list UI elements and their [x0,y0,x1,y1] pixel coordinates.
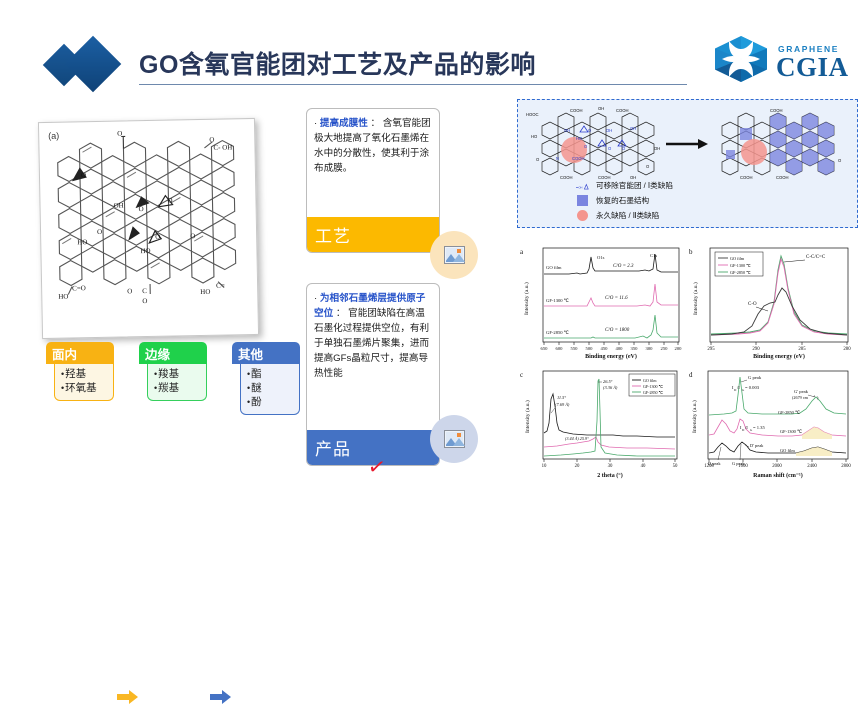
svg-text:(7.69 Å): (7.69 Å) [555,402,570,407]
svg-text:C- OH: C- OH [213,143,232,151]
chart-ylabel: Intensity (a.u.) [692,282,699,315]
right-arrow-icon [117,690,139,704]
card-process[interactable]: · 提高成膜性 ： 含氧官能团极大地提高了氧化石墨烯在水中的分散性，使其利于涂布… [306,108,440,253]
svg-text:10: 10 [542,464,547,469]
image-placeholder-icon[interactable] [430,415,478,463]
svg-text:GO film: GO film [643,378,657,383]
right-arrow-icon [210,690,232,704]
slide-canvas: GO含氧官能团对工艺及产品的影响 GRAPHENE CGIA (a) [0,0,866,488]
svg-text:285: 285 [798,347,806,352]
group-entry: 醚 [247,381,295,395]
brand-name: CGIA [776,52,849,83]
card-body-text: · 为相邻石墨烯层提供原子空位 ： 官能团缺陷在高温石墨化过程提供空位，有利于单… [307,284,439,430]
card-body-text: · 提高成膜性 ： 含氧官能团极大地提高了氧化石墨烯在水中的分散性，使其利于涂布… [307,109,439,217]
chart-panel-label: a [520,248,524,256]
svg-text:600: 600 [556,346,564,351]
group-entry: 酚 [247,395,295,409]
svg-text:2000: 2000 [772,464,782,469]
svg-text:200: 200 [675,346,683,351]
svg-text:450: 450 [601,346,609,351]
card-product[interactable]: · 为相邻石墨烯层提供原子空位 ： 官能团缺陷在高温石墨化过程提供空位，有利于单… [306,283,440,466]
chart-panel-label: d [689,371,693,379]
svg-text:= 1.35: = 1.35 [753,425,765,430]
group-entry: 羧基 [154,367,202,381]
svg-text:1600: 1600 [738,464,748,469]
svg-text:O: O [209,136,214,144]
chart-ylabel: Intensity (a.u.) [524,400,531,433]
svg-text:GF-2850 ℃: GF-2850 ℃ [730,270,751,275]
svg-text:O1s: O1s [597,255,605,260]
svg-text:/I: /I [737,385,740,390]
svg-text:GO film: GO film [730,256,745,261]
svg-text:COOH: COOH [770,108,783,113]
bullet-marker: · [314,118,317,129]
svg-text:O: O [155,233,160,241]
svg-text:HO: HO [200,288,210,296]
svg-text:C: C [142,287,147,295]
svg-text:OH: OH [578,185,582,189]
svg-text:OH: OH [654,146,660,151]
characterization-charts: a Intensity (a.u.) GO film O1s C1s C/O =… [517,240,858,482]
svg-text:OH: OH [630,126,636,131]
svg-text:GF-1300 ℃: GF-1300 ℃ [780,429,802,434]
card-footer-label: 工艺 [307,217,439,253]
svg-text:O: O [584,144,588,149]
svg-text:40: 40 [641,464,646,469]
image-placeholder-icon[interactable] [430,231,478,279]
chart-legend: GO film GF-1300 ℃ GF-2850 ℃ [715,252,763,276]
cgia-brand-logo: GRAPHENE CGIA [698,33,858,85]
svg-text:COOH: COOH [570,108,583,113]
svg-text:O: O [127,287,132,295]
svg-text:C/O = 11.6: C/O = 11.6 [605,296,628,301]
functional-group-chain: 面内 羟基 环氧基 边缘 羧基 羰基 其他 酯 [46,342,296,447]
chart-xlabel: Raman shift (cm⁻¹) [753,472,803,479]
graphene-oxide-structure-figure: (a) [38,118,259,339]
svg-text:GF-2850 ℃: GF-2850 ℃ [778,410,800,415]
svg-text:GF-1300 ℃: GF-1300 ℃ [546,298,570,303]
svg-text:HO: HO [576,136,583,141]
svg-text:HO: HO [140,247,150,255]
svg-text:20: 20 [575,464,580,469]
svg-text:G peak: G peak [748,375,762,380]
group-card-edge[interactable]: 边缘 羧基 羰基 [139,342,207,401]
svg-text:HO: HO [531,134,538,139]
group-entry: 酯 [247,367,295,381]
svg-text:(2679 cm: (2679 cm [792,395,809,400]
svg-text:26.5°: 26.5° [603,379,613,384]
svg-text:COOH: COOH [572,156,585,161]
red-circle-icon [576,210,589,221]
svg-text:C-C/C=C: C-C/C=C [806,255,826,260]
svg-text:O: O [646,164,650,169]
card-lead-label: 提高成膜性 [320,118,368,129]
page-title: GO含氧官能团对工艺及产品的影响 [139,45,536,81]
reduction-schematic-drawing: HOOC COOH OH COOH HO OH COOH COOH OH O O… [518,102,856,182]
chart-ylabel: Intensity (a.u.) [691,400,698,433]
chart-panel-b-c1s-xps: b Intensity (a.u.) GO film GF-1300 ℃ GF-… [688,240,858,360]
svg-text:GO film: GO film [780,448,795,453]
hexagon-star-icon [712,35,770,83]
svg-text:HO: HO [77,238,87,246]
group-entry-list: 羟基 环氧基 [54,364,114,401]
blue-square-icon [576,195,589,206]
svg-text:O: O [588,128,592,133]
svg-text:11.5°: 11.5° [557,395,566,400]
group-entry-list: 羧基 羰基 [147,364,207,401]
svg-text:2800: 2800 [841,464,851,469]
svg-text:D' peak: D' peak [750,443,764,448]
legend-label: 可移除官能团 / Ⅰ类缺陷 [596,180,673,191]
svg-text:350: 350 [631,346,639,351]
svg-text:HO: HO [58,293,68,301]
svg-text:OH: OH [564,128,570,133]
svg-text:OH: OH [113,201,123,209]
group-entry-list: 酯 醚 酚 [240,364,300,415]
svg-text:2400: 2400 [807,464,817,469]
svg-text:500: 500 [586,346,594,351]
legend-label: 恢复的石墨结构 [596,195,649,206]
red-check-icon: ✓ [366,454,387,480]
svg-text:C1s: C1s [650,253,657,258]
svg-text:50: 50 [673,464,678,469]
chart-legend: GO film GF-1300 ℃ GF-2850 ℃ [629,374,675,396]
graphene-oxide-structure-drawing: O O O C- OH O O OH O O HO HO O HO C=O O … [39,119,256,336]
chart-ylabel: Intensity (a.u.) [523,282,530,315]
chart-xlabel: 2 theta (°) [597,472,622,479]
svg-text:O: O [190,232,195,240]
svg-text:C-O: C-O [748,302,757,307]
svg-text:O: O [81,171,86,179]
reduction-arrow-icon [666,139,708,149]
chart-xlabel: Binding energy (eV) [753,353,805,360]
group-entry: 羟基 [61,367,109,381]
group-card-in-plane[interactable]: 面内 羟基 环氧基 [46,342,114,401]
bullet-marker: · [314,293,317,304]
double-diamond-logo [47,40,132,88]
svg-text:COOH: COOH [776,175,789,180]
svg-text:O: O [622,146,626,151]
svg-text:GF-2850 ℃: GF-2850 ℃ [546,330,570,335]
svg-text:550: 550 [571,346,579,351]
chart-panel-label: b [689,248,693,256]
legend-label: 永久缺陷 / Ⅱ类缺陷 [596,210,659,221]
svg-text:280: 280 [843,347,851,352]
legend-row: OH 可移除官能团 / Ⅰ类缺陷 [576,178,673,193]
chart-panel-a-xps-survey: a Intensity (a.u.) GO film O1s C1s C/O =… [517,240,687,360]
legend-row: 恢复的石墨结构 [576,193,673,208]
card-separator: ： [336,308,346,319]
svg-text:N: N [556,156,559,161]
svg-text:C=: C= [216,282,225,290]
svg-text:COOH: COOH [740,175,753,180]
svg-text:O: O [142,297,147,305]
card-separator: ： [371,118,381,129]
chart-xlabel: Binding energy (eV) [585,353,637,360]
svg-text:GF-2850 ℃: GF-2850 ℃ [643,390,663,395]
group-header-label: 边缘 [139,342,207,364]
svg-text:290: 290 [752,347,760,352]
svg-text:(3.36 Å): (3.36 Å) [603,385,618,390]
svg-text:G' peak: G' peak [794,389,809,394]
svg-text:650: 650 [541,346,549,351]
svg-text:O: O [97,228,102,236]
svg-text:(3.44 Å) 25.9°: (3.44 Å) 25.9° [565,436,589,441]
group-card-other[interactable]: 其他 酯 醚 酚 [232,342,300,415]
svg-text:O: O [117,129,122,137]
svg-text:300: 300 [646,346,654,351]
svg-text:1200: 1200 [704,464,714,469]
svg-text:= 0.003: = 0.003 [745,385,760,390]
svg-text:GF-1300 ℃: GF-1300 ℃ [730,263,751,268]
svg-text:O: O [139,205,144,213]
svg-text:HOOC: HOOC [526,112,539,117]
svg-text:C=O: C=O [72,284,86,292]
svg-text:C/O = 1800: C/O = 1800 [605,328,630,333]
group-header-label: 其他 [232,342,300,364]
reduction-diagram: HOOC COOH OH COOH HO OH COOH COOH OH O O… [517,99,858,228]
svg-text:COOH: COOH [616,108,629,113]
group-header-label: 面内 [46,342,114,364]
svg-text:/I: /I [745,425,748,430]
chart-panel-c-xrd: c Intensity (a.u.) GO film GF-1300 ℃ GF-… [517,361,687,481]
reduction-legend: OH 可移除官能团 / Ⅰ类缺陷 恢复的石墨结构 永久缺陷 / Ⅱ类缺陷 [576,178,673,223]
svg-text:O: O [608,146,612,151]
svg-text:C/O = 2.3: C/O = 2.3 [613,264,634,269]
svg-text:250: 250 [661,346,669,351]
svg-text:O: O [167,197,172,205]
group-entry: 环氧基 [61,381,109,395]
svg-text:30: 30 [608,464,613,469]
svg-text:400: 400 [616,346,624,351]
svg-text:O: O [536,157,540,162]
svg-text:COOH: COOH [560,175,573,180]
legend-row: 永久缺陷 / Ⅱ类缺陷 [576,208,673,223]
svg-text:OH: OH [598,106,604,111]
title-divider [139,84,687,85]
blue-outline-hexagon-icon: OH [576,180,589,191]
svg-text:GO film: GO film [546,265,562,270]
svg-text:O: O [838,158,842,163]
svg-text:OH: OH [606,128,612,133]
svg-text:295: 295 [707,347,715,352]
chart-panel-d-raman: d Intensity (a.u.) G peak I D /I G = 0.0… [688,361,858,481]
svg-text:GF-1300 ℃: GF-1300 ℃ [643,384,663,389]
group-entry: 羰基 [154,381,202,395]
chart-panel-label: c [520,371,523,379]
